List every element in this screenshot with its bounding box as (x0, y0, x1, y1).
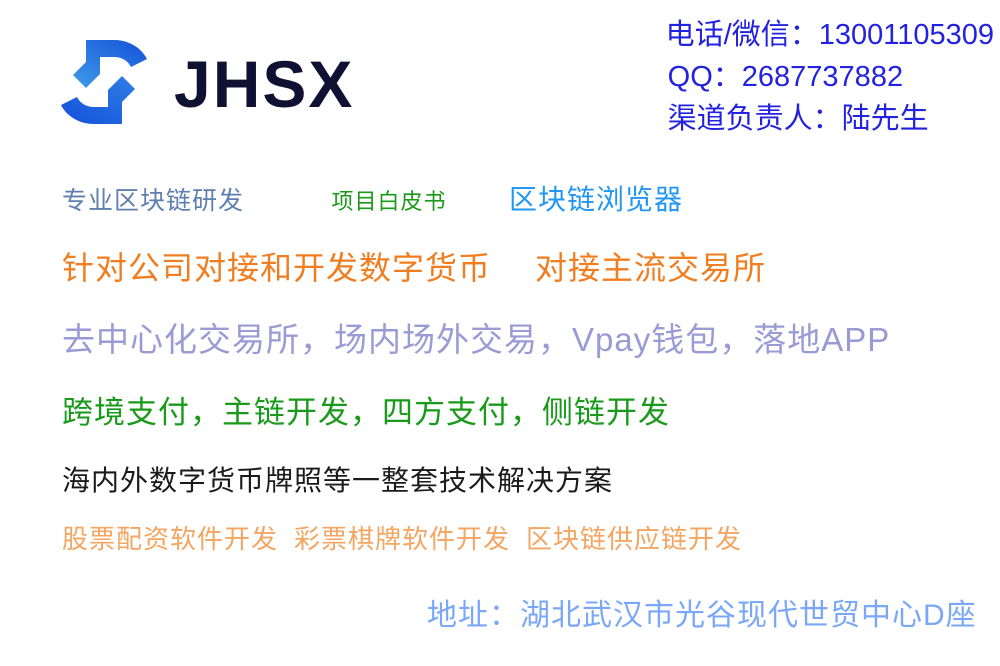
service-line-currency: 针对公司对接和开发数字货币对接主流交易所 (62, 249, 766, 287)
contact-phone-wechat: 电话/微信：13001105309 (666, 14, 994, 56)
service-line-payment: 跨境支付，主链开发，四方支付，侧链开发 (62, 394, 670, 431)
service-tag-row: 专业区块链研发 项目白皮书 区块链浏览器 (62, 183, 962, 217)
service-line-dex: 去中心化交易所，场内场外交易，Vpay钱包，落地APP (62, 320, 890, 360)
brand-logo: JHSX (52, 30, 354, 134)
brand-wordmark: JHSX (174, 51, 354, 117)
service-line-license: 海内外数字货币牌照等一整套技术解决方案 (62, 464, 613, 498)
service-line-software: 股票配资软件开发彩票棋牌软件开发区块链供应链开发 (62, 524, 742, 555)
contact-info: 电话/微信：13001105309 QQ：2687737882 渠道负责人：陆先… (666, 14, 994, 140)
service-supply-chain: 区块链供应链开发 (526, 524, 742, 555)
contact-qq: QQ：2687737882 (666, 56, 994, 98)
chain-link-s-logo-icon (52, 30, 156, 134)
promo-banner: JHSX 电话/微信：13001105309 QQ：2687737882 渠道负… (0, 0, 1000, 666)
company-address: 地址：湖北武汉市光谷现代世贸中心D座 (427, 598, 977, 634)
service-lottery-software: 彩票棋牌软件开发 (294, 524, 510, 555)
service-exchange-integration: 对接主流交易所 (535, 250, 766, 286)
tag-blockchain-rnd: 专业区块链研发 (62, 186, 244, 216)
service-currency-dev: 针对公司对接和开发数字货币 (62, 250, 491, 286)
service-stock-software: 股票配资软件开发 (62, 524, 278, 555)
contact-manager: 渠道负责人：陆先生 (666, 98, 994, 140)
tag-blockchain-explorer: 区块链浏览器 (509, 183, 683, 217)
tag-whitepaper: 项目白皮书 (331, 189, 446, 215)
